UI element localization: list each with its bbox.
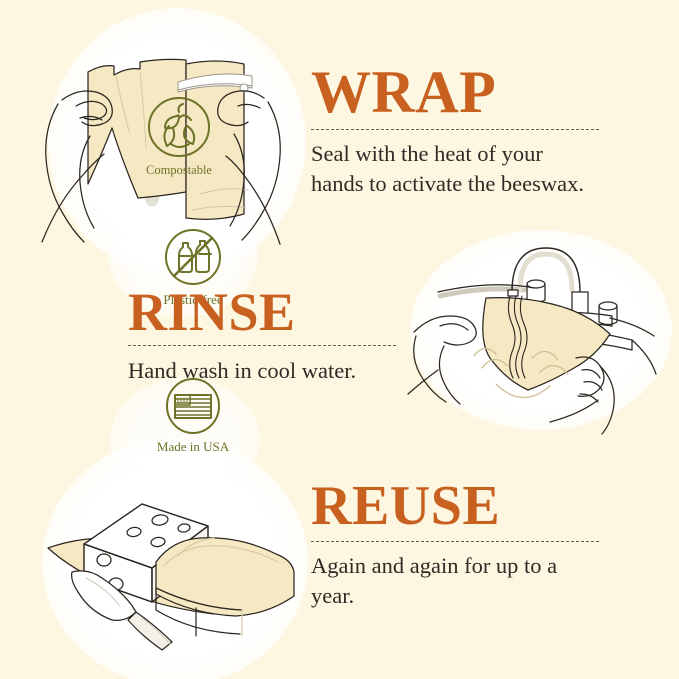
- divider-wrap: [311, 129, 599, 130]
- badge-compostable: Compostable: [131, 96, 227, 178]
- step-text-reuse: REUSE Again and again for up to a year.: [311, 478, 599, 610]
- step-text-rinse: RINSE Hand wash in cool water.: [128, 285, 396, 386]
- step-text-wrap: WRAP Seal with the heat of your hands to…: [311, 62, 599, 198]
- divider-reuse: [311, 541, 599, 542]
- step-title-reuse: REUSE: [311, 478, 599, 534]
- cheese-block-wrapped-with-knife-illustration: [38, 462, 312, 650]
- usa-flag-in-circle-icon: [139, 378, 247, 439]
- step-description-wrap: Seal with the heat of your hands to acti…: [311, 139, 599, 198]
- beeswax-wrap-instructions-poster: WRAP Seal with the heat of your hands to…: [0, 0, 679, 679]
- badge-caption-compostable: Compostable: [131, 163, 227, 178]
- step-description-reuse: Again and again for up to a year.: [311, 551, 599, 610]
- step-title-rinse: RINSE: [128, 285, 396, 339]
- divider-rinse: [128, 345, 396, 346]
- badge-made-in-usa: Made in USA: [139, 378, 247, 455]
- hands-rinsing-wrap-under-faucet-illustration: [404, 234, 676, 426]
- step-title-wrap: WRAP: [311, 62, 599, 122]
- badge-caption-made-in-usa: Made in USA: [139, 439, 247, 455]
- step-description-rinse: Hand wash in cool water.: [128, 356, 396, 386]
- leaves-in-circle-icon: [131, 96, 227, 165]
